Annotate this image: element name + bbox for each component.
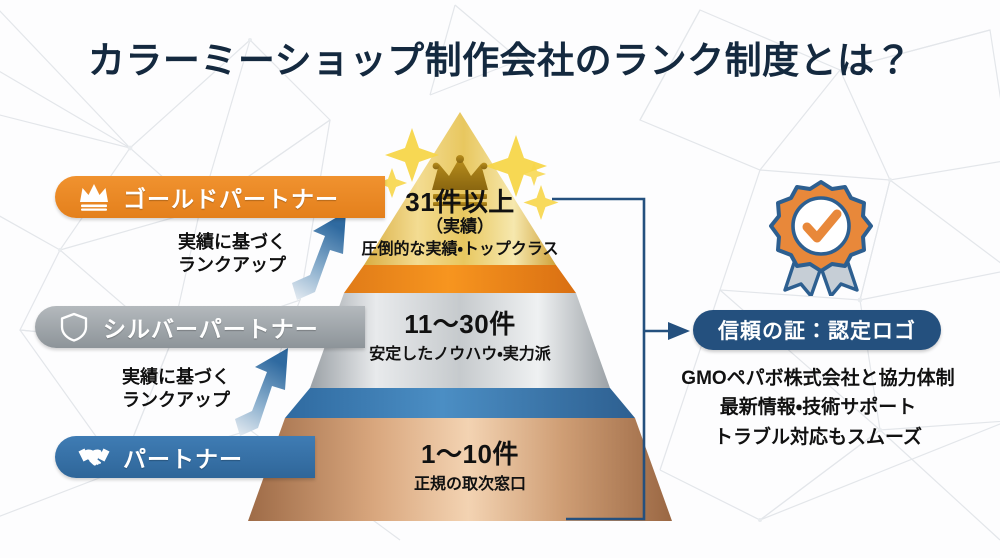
certification-badge [757, 178, 885, 296]
rank-banner-gold[interactable]: ゴールドパートナー [55, 176, 385, 218]
certification-pill-label: 信頼の証：認定ロゴ [718, 315, 916, 345]
rankup-upper-line1: 実績に基づく [178, 231, 286, 254]
rankup-annotation-upper: 実績に基づく ランクアップ [178, 231, 286, 277]
tier-bronze-count: 1〜10件 [270, 440, 670, 469]
handshake-icon [77, 442, 111, 472]
rank-banner-silver[interactable]: シルバーパートナー [35, 306, 365, 348]
shield-icon [57, 312, 91, 342]
rankup-upper-line2: ランクアップ [178, 254, 286, 277]
infographic-canvas: カラーミーショップ制作会社のランク制度とは？ [0, 0, 1000, 558]
page-title: カラーミーショップ制作会社のランク制度とは？ [0, 30, 1000, 84]
tier-text-bronze: 1〜10件 正規の取次窓口 [270, 440, 670, 494]
connector-arrowhead [668, 322, 690, 340]
tier-bronze-description: 正規の取次窓口 [270, 475, 670, 494]
rankup-lower-line2: ランクアップ [122, 389, 230, 412]
crown-icon [77, 182, 111, 212]
certification-line-1: GMOペパボ株式会社と協力体制 [660, 364, 976, 393]
certification-line-2: 最新情報・技術サポート [660, 393, 976, 422]
tier-gold-count-note: （実績） [340, 217, 580, 237]
rankup-annotation-lower: 実績に基づく ランクアップ [122, 366, 230, 412]
certification-line-3: トラブル対応もスムーズ [660, 423, 976, 452]
rank-banner-gold-label: ゴールドパートナー [123, 180, 339, 214]
certification-pill[interactable]: 信頼の証：認定ロゴ [693, 310, 941, 350]
certification-benefits: GMOペパボ株式会社と協力体制 最新情報・技術サポート トラブル対応もスムーズ [660, 364, 976, 452]
award-rosette-check-icon [757, 178, 885, 296]
rank-banner-silver-label: シルバーパートナー [103, 310, 319, 344]
tier-gold-description: 圧倒的な実績・トップクラス [340, 240, 580, 259]
rank-banner-partner[interactable]: パートナー [55, 436, 315, 478]
rank-banner-partner-label: パートナー [123, 440, 243, 474]
rankup-lower-line1: 実績に基づく [122, 366, 230, 389]
